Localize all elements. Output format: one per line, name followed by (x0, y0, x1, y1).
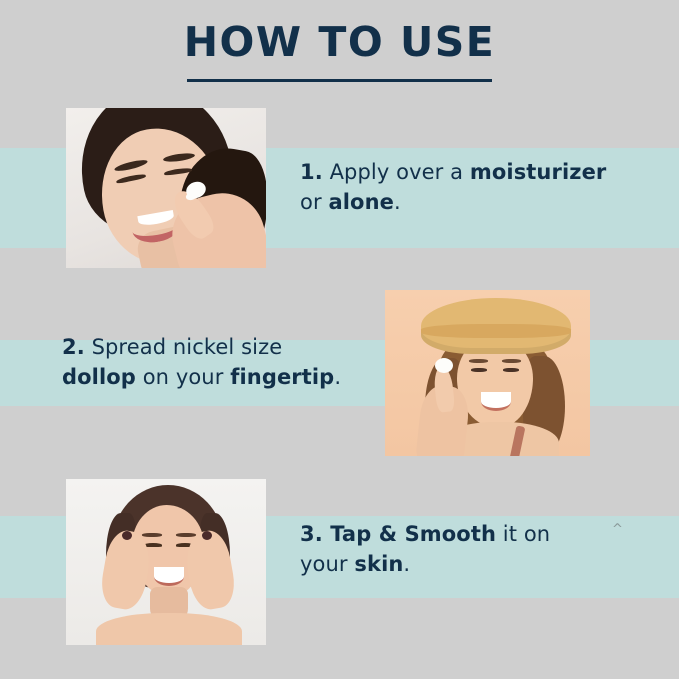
step-3-line1-post: it on (496, 522, 550, 546)
eye-right (503, 368, 519, 372)
cream-dollop (435, 358, 453, 373)
photo-scene-2 (385, 290, 590, 456)
smile-shape (481, 392, 511, 411)
smile-shape (154, 567, 184, 586)
step-2-line2-mid: on your (136, 365, 230, 389)
step-2-line1-pre: Spread nickel size (85, 335, 282, 359)
step-2-line2-post: . (334, 365, 341, 389)
photo-scene-3 (66, 479, 266, 645)
step-2-line2-bold1: dollop (62, 365, 136, 389)
step-1-line2-bold: alone (328, 190, 394, 214)
step-3-line2-bold: skin (354, 552, 403, 576)
hat-band-shape (421, 324, 571, 338)
step-1-number: 1. (300, 160, 323, 184)
title-underline (187, 79, 492, 82)
step-1-line2-post: . (394, 190, 401, 214)
nail-left (122, 531, 132, 540)
nail-right (202, 531, 212, 540)
step-3-line2-post: . (403, 552, 410, 576)
step-3-text: 3. Tap & Smooth it on your skin. (300, 520, 650, 580)
page-title: HOW TO USE (0, 20, 679, 65)
how-to-use-infographic: HOW TO USE 1. Apply over a moisturizer o… (0, 0, 679, 679)
photo-scene-1 (66, 108, 266, 268)
step-3-number: 3. (300, 522, 323, 546)
step-3-photo (66, 479, 266, 645)
step-1-text: 1. Apply over a moisturizer or alone. (300, 158, 650, 218)
step-3-line2-pre: your (300, 552, 354, 576)
eyebrow-right (502, 359, 521, 363)
step-3-line1-bold: Tap & Smooth (323, 522, 496, 546)
step-1-photo (66, 108, 266, 268)
shoulders-shape (96, 613, 242, 645)
step-1-line1-bold: moisturizer (470, 160, 606, 184)
eyebrow-left (142, 533, 162, 537)
eyebrow-right (176, 533, 196, 537)
step-2-text: 2. Spread nickel size dollop on your fin… (62, 333, 382, 393)
step-2-line2-bold2: fingertip (230, 365, 334, 389)
step-1-line1-pre: Apply over a (323, 160, 470, 184)
caret-icon: ^ (612, 522, 623, 537)
step-2-number: 2. (62, 335, 85, 359)
step-1-line2-pre: or (300, 190, 328, 214)
eye-left (471, 368, 487, 372)
step-2-photo (385, 290, 590, 456)
eyebrow-left (469, 359, 488, 363)
title-block: HOW TO USE (0, 20, 679, 82)
